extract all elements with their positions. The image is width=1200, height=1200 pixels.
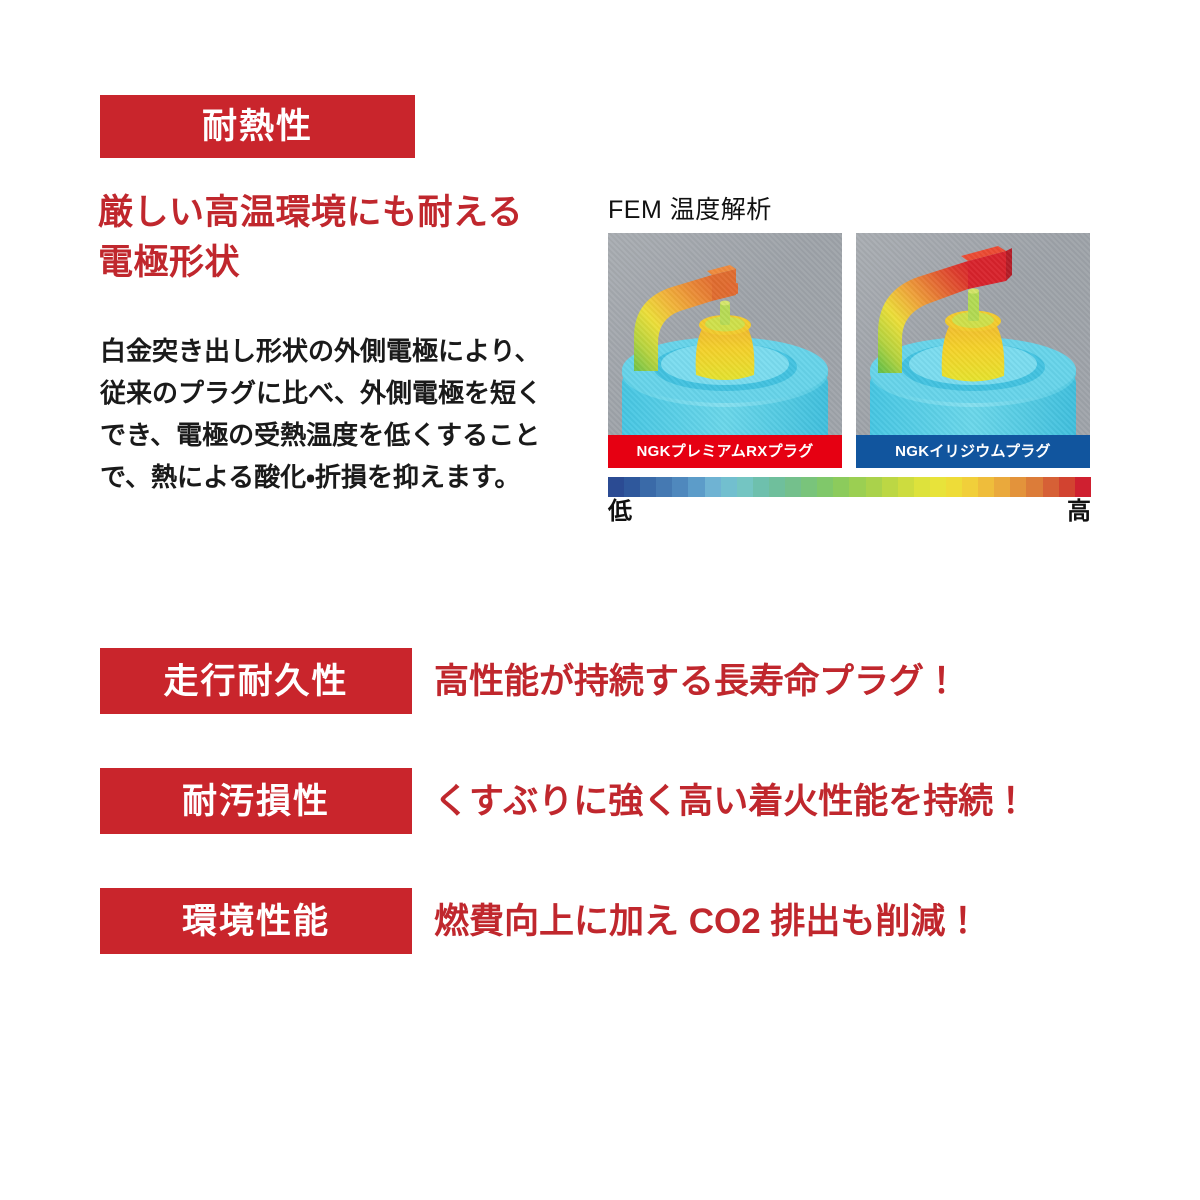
fem-color-band-16 [866,477,882,497]
feature-badge-label-fouling-resistance: 耐汚損性 [182,784,330,819]
fem-panel-iridium: NGKイリジウムプラグ [856,233,1090,468]
fem-color-band-23 [978,477,994,497]
section-heat-body-line-2: 従来のプラグに比べ、外側電極を短く [100,372,580,414]
fem-color-band-20 [930,477,946,497]
fem-thermal-render-premium-rx [608,233,842,468]
fem-scale-low-label: 低 [608,499,632,524]
feature-text-environmental: 燃費向上に加え CO2 排出も削減！ [434,904,980,939]
section-heat-body: 白金突き出し形状の外側電極により、 従来のプラグに比べ、外側電極を短く でき、電… [100,330,580,498]
section-heat-heading-line-2: 電極形状 [98,238,568,288]
fem-color-band-28 [1059,477,1075,497]
fem-color-band-21 [946,477,962,497]
fem-color-band-24 [994,477,1010,497]
fem-color-band-5 [688,477,704,497]
fem-color-band-26 [1026,477,1042,497]
fem-color-band-29 [1075,477,1091,497]
fem-panel-caption-label-iridium: NGKイリジウムプラグ [895,444,1051,459]
feature-row-durability: 走行耐久性 高性能が持続する長寿命プラグ！ [100,648,1100,714]
fem-thermal-render-iridium [856,233,1090,468]
feature-text-fouling-resistance: くすぶりに強く高い着火性能を持続！ [434,784,1028,819]
section-heat-badge: 耐熱性 [100,95,415,158]
feature-badge-label-environmental: 環境性能 [182,904,330,939]
feature-badge-durability: 走行耐久性 [100,648,412,714]
section-heat-heading-line-1: 厳しい高温環境にも耐える [98,188,568,238]
fem-panel-caption-premium-rx: NGKプレミアムRXプラグ [608,435,842,468]
fem-color-band-22 [962,477,978,497]
fem-panel-group: NGKプレミアムRXプラグ [608,233,1093,468]
section-heat-heading: 厳しい高温環境にも耐える 電極形状 [98,188,568,287]
fem-color-band-15 [849,477,865,497]
fem-color-band-13 [817,477,833,497]
fem-color-band-6 [705,477,721,497]
fem-panel-caption-label-premium-rx: NGKプレミアムRXプラグ [636,444,813,459]
fem-figure-title: FEM 温度解析 [608,198,1093,223]
fem-color-band-12 [801,477,817,497]
fem-color-band-0 [608,477,624,497]
fem-color-band-3 [656,477,672,497]
fem-color-scale [608,477,1091,497]
fem-color-scale-labels: 低 高 [608,499,1091,524]
feature-badge-label-durability: 走行耐久性 [163,664,348,699]
fem-color-band-18 [898,477,914,497]
fem-color-band-25 [1010,477,1026,497]
fem-color-band-19 [914,477,930,497]
feature-badge-environmental: 環境性能 [100,888,412,954]
fem-panel-caption-iridium: NGKイリジウムプラグ [856,435,1090,468]
fem-scale-high-label: 高 [1067,499,1091,524]
section-heat-body-line-4: で、熱による酸化・折損を抑えます。 [100,456,580,498]
fem-color-band-2 [640,477,656,497]
feature-text-durability: 高性能が持続する長寿命プラグ！ [434,664,959,699]
section-heat-body-line-3: でき、電極の受熱温度を低くすること [100,414,580,456]
fem-color-band-17 [882,477,898,497]
feature-row-fouling-resistance: 耐汚損性 くすぶりに強く高い着火性能を持続！ [100,768,1100,834]
fem-color-band-11 [785,477,801,497]
fem-color-band-9 [753,477,769,497]
feature-badge-fouling-resistance: 耐汚損性 [100,768,412,834]
fem-panel-premium-rx: NGKプレミアムRXプラグ [608,233,842,468]
fem-color-band-10 [769,477,785,497]
fem-analysis-figure: FEM 温度解析 [608,198,1093,524]
section-heat-body-line-1: 白金突き出し形状の外側電極により、 [100,330,580,372]
feature-row-environmental: 環境性能 燃費向上に加え CO2 排出も削減！ [100,888,1100,954]
section-heat-badge-label: 耐熱性 [202,109,313,144]
fem-color-band-7 [721,477,737,497]
fem-color-band-14 [833,477,849,497]
fem-color-band-27 [1043,477,1059,497]
fem-color-band-4 [672,477,688,497]
fem-color-band-1 [624,477,640,497]
fem-color-band-8 [737,477,753,497]
